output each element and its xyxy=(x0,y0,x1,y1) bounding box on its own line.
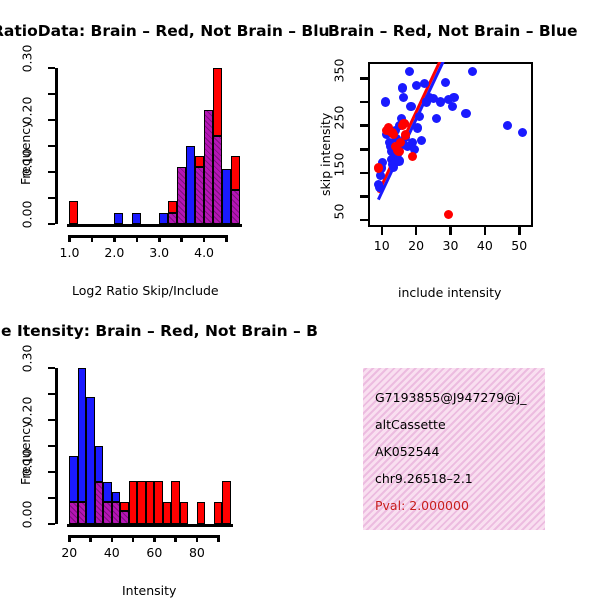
y-axis-tick xyxy=(48,145,55,148)
y-axis-tick xyxy=(48,67,55,70)
scatter-xlabel: include intensity xyxy=(398,285,501,300)
gene-info-line-4: chr9.26518–2.1 xyxy=(375,471,473,486)
histogram-bar xyxy=(114,213,123,224)
histogram-bar xyxy=(163,502,172,524)
histogram-bar-overlap xyxy=(95,482,104,524)
histogram-bar xyxy=(78,368,87,502)
scatter-point xyxy=(398,83,407,92)
histogram-bar xyxy=(86,397,95,524)
y-tick-label: 250 xyxy=(332,102,347,132)
scatter-point xyxy=(448,102,457,111)
scatter-point xyxy=(413,123,422,132)
x-tick-label: 20 xyxy=(400,238,432,253)
x-tick-label: 30 xyxy=(435,238,467,253)
x-axis-tick xyxy=(415,227,418,235)
x-tick-label: 3.0 xyxy=(141,245,177,260)
gene-info-line-5: Pval: 2.000000 xyxy=(375,498,469,513)
histogram-bar xyxy=(69,456,78,502)
histogram-bar-overlap xyxy=(213,136,222,224)
x-axis-tick xyxy=(113,235,116,242)
x-axis-tick xyxy=(91,235,94,242)
scatter-point xyxy=(401,130,410,139)
histogram-bar-overlap xyxy=(177,167,186,224)
scatter-point xyxy=(394,156,403,165)
y-axis-line xyxy=(55,368,58,524)
y-axis-tick xyxy=(360,148,368,151)
ratio-histogram-title: RatioData: Brain – Red, Not Brain – Blu xyxy=(0,22,330,40)
scatter-plot-area: 501502503501020304050 xyxy=(368,62,533,227)
histogram-bar-overlap xyxy=(204,110,213,224)
gene-info-panel: G7193855@J947279@j_altCassetteAK052544ch… xyxy=(363,368,545,530)
x-axis-tick xyxy=(180,235,183,242)
y-axis-tick xyxy=(48,419,55,422)
histogram-bar xyxy=(171,481,180,524)
x-axis-tick xyxy=(111,535,114,542)
panel-ratio-histogram: RatioData: Brain – Red, Not Brain – Blu … xyxy=(0,0,300,300)
histogram-bar xyxy=(132,213,141,224)
y-tick-label: 0.00 xyxy=(20,499,35,531)
x-axis-tick xyxy=(153,535,156,542)
histogram-bar xyxy=(214,502,223,524)
histogram-bar xyxy=(231,156,240,190)
gene-info-line-3: AK052544 xyxy=(375,444,439,459)
histogram-bar-overlap xyxy=(195,167,204,224)
histogram-bar xyxy=(95,446,104,482)
histogram-bar xyxy=(213,68,222,136)
scatter-point xyxy=(374,163,383,172)
x-tick-label: 10 xyxy=(366,238,398,253)
histogram-bar xyxy=(154,481,163,524)
scatter-point xyxy=(399,93,408,102)
panel-gene-intensity-histogram: ne Itensity: Brain – Red, Not Brain – B … xyxy=(0,300,300,600)
y-tick-label: 50 xyxy=(332,196,347,226)
x-tick-label: 40 xyxy=(94,545,130,560)
x-axis-tick xyxy=(136,235,139,242)
scatter-point xyxy=(381,97,390,106)
histogram-bar xyxy=(186,146,195,224)
scatter-point xyxy=(444,210,453,219)
gene-info-line-1: G7193855@J947279@j_ xyxy=(375,390,526,405)
histogram-bar-overlap xyxy=(69,502,78,524)
histogram-bar xyxy=(120,502,129,511)
x-tick-label: 80 xyxy=(179,545,215,560)
x-axis-tick xyxy=(484,227,487,235)
x-axis-tick xyxy=(381,227,384,235)
scatter-point xyxy=(518,128,527,137)
x-tick-label: 4.0 xyxy=(186,245,222,260)
scatter-data-layer xyxy=(368,62,533,227)
histogram-bar xyxy=(129,481,138,524)
x-axis-tick xyxy=(217,535,220,542)
histogram-bar-overlap xyxy=(168,213,177,224)
histogram-bar xyxy=(137,481,146,524)
y-axis-tick xyxy=(48,223,55,226)
y-axis-tick xyxy=(48,119,55,122)
scatter-point xyxy=(441,78,450,87)
y-tick-label: 350 xyxy=(332,55,347,85)
ratio-histogram-xlabel: Log2 Ratio Skip/Include xyxy=(72,283,219,298)
y-axis-tick xyxy=(48,171,55,174)
y-axis-tick xyxy=(360,101,368,104)
scatter-point xyxy=(394,147,403,156)
y-axis-tick xyxy=(48,471,55,474)
scatter-point xyxy=(461,109,470,118)
x-axis-tick xyxy=(132,535,135,542)
x-axis-tick xyxy=(89,535,92,542)
y-tick-label: 0.30 xyxy=(20,43,35,75)
y-axis-tick xyxy=(360,172,368,175)
histogram-bar xyxy=(180,502,189,524)
x-tick-label: 2.0 xyxy=(96,245,132,260)
scatter-point xyxy=(415,112,424,121)
scatter-point xyxy=(417,136,426,145)
y-axis-tick xyxy=(360,77,368,80)
gene-info-line-2: altCassette xyxy=(375,417,446,432)
histogram-bar xyxy=(222,481,231,524)
y-axis-tick xyxy=(48,93,55,96)
ratio-histogram-plot-area: 0.000.100.200.301.02.03.04.0 xyxy=(65,63,231,224)
x-axis-tick xyxy=(518,227,521,235)
histogram-bar xyxy=(159,213,168,224)
x-axis-tick xyxy=(225,235,228,242)
histogram-bar-overlap xyxy=(231,190,240,224)
y-tick-label: 0.20 xyxy=(20,95,35,127)
gene-intensity-title: ne Itensity: Brain – Red, Not Brain – B xyxy=(0,322,318,340)
x-axis-tick xyxy=(203,235,206,242)
x-axis-tick xyxy=(68,535,71,542)
scatter-title: Brain – Red, Not Brain – Blue xyxy=(328,22,578,40)
gene-intensity-plot-area: 0.000.100.200.3020406080 xyxy=(65,363,231,524)
histogram-baseline xyxy=(67,524,233,527)
scatter-point xyxy=(432,114,441,123)
scatter-point xyxy=(389,130,398,139)
y-tick-label: 0.20 xyxy=(20,395,35,427)
x-axis-tick xyxy=(174,535,177,542)
y-axis-tick xyxy=(48,393,55,396)
histogram-bar xyxy=(195,156,204,166)
x-tick-label: 1.0 xyxy=(52,245,88,260)
histogram-bar xyxy=(103,482,112,502)
y-axis-tick xyxy=(48,497,55,500)
histogram-bar-overlap xyxy=(78,502,87,524)
histogram-bar xyxy=(197,502,206,524)
histogram-bar xyxy=(112,492,121,502)
histogram-baseline xyxy=(67,224,241,227)
y-tick-label: 0.10 xyxy=(20,147,35,179)
y-tick-label: 0.10 xyxy=(20,447,35,479)
y-axis-line xyxy=(55,68,58,224)
scatter-point xyxy=(399,119,408,128)
histogram-bar-overlap xyxy=(103,502,112,524)
gene-intensity-xlabel: Intensity xyxy=(122,583,176,598)
y-tick-label: 0.30 xyxy=(20,343,35,375)
scatter-point xyxy=(408,152,417,161)
scatter-point xyxy=(406,102,415,111)
y-axis-tick xyxy=(48,197,55,200)
y-axis-tick xyxy=(360,195,368,198)
histogram-bar xyxy=(222,169,231,224)
histogram-bar-overlap xyxy=(120,511,129,524)
x-tick-label: 20 xyxy=(51,545,87,560)
histogram-bar xyxy=(69,201,78,224)
y-axis-tick xyxy=(48,367,55,370)
x-axis-tick xyxy=(196,535,199,542)
y-axis-tick xyxy=(360,124,368,127)
histogram-bar xyxy=(146,481,155,524)
scatter-point xyxy=(405,67,414,76)
y-axis-tick xyxy=(48,523,55,526)
scatter-point xyxy=(420,79,429,88)
scatter-point xyxy=(449,93,458,102)
histogram-bar-overlap xyxy=(112,502,121,524)
x-axis-tick xyxy=(68,235,71,242)
y-tick-label: 0.00 xyxy=(20,199,35,231)
x-tick-label: 40 xyxy=(469,238,501,253)
y-tick-label: 150 xyxy=(332,149,347,179)
x-tick-label: 60 xyxy=(136,545,172,560)
x-axis-tick xyxy=(449,227,452,235)
y-axis-tick xyxy=(48,445,55,448)
panel-intensity-scatter: Brain – Red, Not Brain – Blue skip inten… xyxy=(300,0,600,300)
histogram-bar xyxy=(168,201,177,213)
scatter-point xyxy=(468,67,477,76)
y-axis-tick xyxy=(360,219,368,222)
x-axis-tick xyxy=(158,235,161,242)
scatter-point xyxy=(503,121,512,130)
x-tick-label: 50 xyxy=(503,238,535,253)
